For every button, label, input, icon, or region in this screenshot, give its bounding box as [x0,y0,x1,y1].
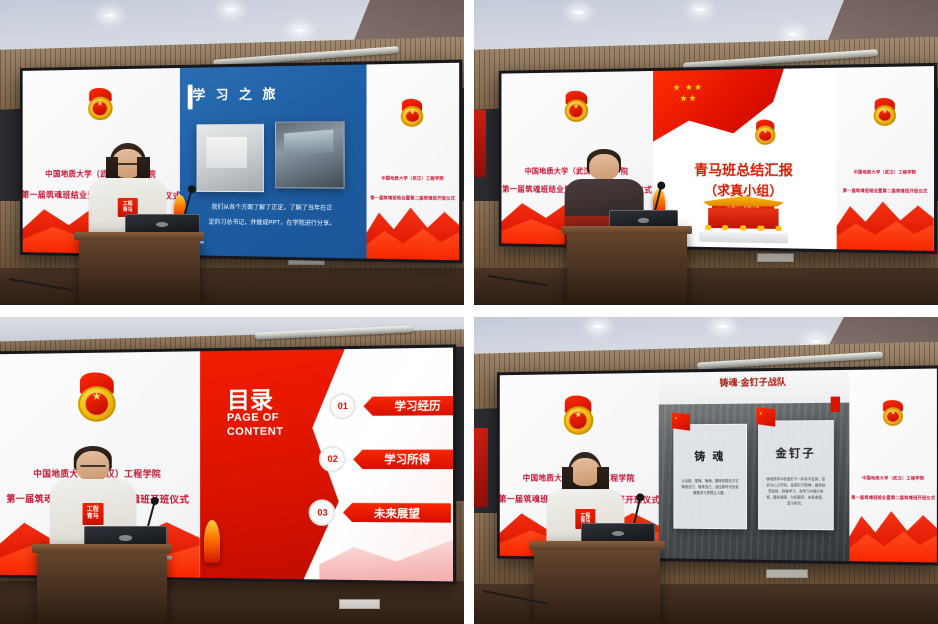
podium-top [529,541,664,550]
screen-right: 中国地质大学（武汉）工程学院 第一届筑魂班结业暨第二届筑魂班开班仪式 [366,63,460,261]
photo-collage: 中国地质大学（武汉）工程学院 第一届筑魂班结业暨第二届筑魂班开班仪式 学 习 之… [0,0,938,624]
title-line-1: 中国地质大学（武汉）工程学院 [854,170,917,176]
lecture-hall-room: 中国地质大学（武汉）工程学院 第一届筑魂班结业暨第二届筑魂班开班仪式 ★ ★★ … [474,0,938,305]
toc-item-label: 学习经历 [363,395,453,415]
title-line-2: 第一届筑魂班结业暨第二届筑魂班开班仪式 [843,188,928,195]
tshirt-badge: 工程青马 [82,503,103,525]
lecture-hall-room: 中国地质大学（武汉）工程学院 第一届筑魂班结业暨第二届筑魂班开班仪式 铸魂·金钉… [474,317,938,624]
toc-title-en-line1: PAGE OF [227,412,279,424]
cover-title: 青马班总结汇报 [653,160,837,181]
toc-item[interactable]: 01 学习经历 [330,392,454,420]
team-card-body: 像地质学中的金钉子一样永不生锈，坚定为心之所向，发扬钉子精神，做到刻苦钻研、勤奋… [765,477,827,507]
head [571,458,601,486]
team-card-title: 金钉子 [759,445,832,461]
cyl-emblem-icon [754,119,776,146]
podium [79,232,200,305]
toc-title-cn: 目录 [227,380,273,415]
cyl-emblem-icon-shape [401,99,425,128]
screen-center: ★ ★★ ★★ 青马班总结汇报 （求真小组） 汇报人：求真小组 [653,68,837,249]
side-banner [474,428,488,508]
photo-seminar-room [275,121,345,189]
toc-item[interactable]: 02 学习所得 [319,446,453,473]
toc-item-label: 学习所得 [353,449,453,469]
cyl-emblem-icon [881,400,904,427]
panel-qingma-summary[interactable]: 中国地质大学（武汉）工程学院 第一届筑魂班结业暨第二届筑魂班开班仪式 ★ ★★ … [474,0,938,305]
eyeglasses-icon [80,465,105,469]
cyl-emblem-icon [562,396,594,436]
china-flag-icon [672,412,690,431]
slide-caption-line-2: 定的习总书记，并做成PPT，在学院进行分享。 [195,218,351,230]
team-slide: 铸魂·金钉子战队 铸 魂 以治团、塑魂、铸魂、雕琢的理念方式铸造自己、锻炼自己、… [659,370,850,562]
team-card: 铸 魂 以治团、塑魂、铸魂、雕琢的理念方式铸造自己、锻炼自己、适应新时代的发展要… [673,424,746,530]
toc-item-number: 02 [319,446,346,472]
photo-classroom-lecture [196,124,264,193]
team-slide-heading: 铸魂·金钉子战队 [659,374,850,390]
tiananmen-gate-icon [699,196,787,243]
screen-center: 目录 PAGE OF CONTENT 01 学习经历 02 学习所得 [200,347,453,581]
study-journey-slide: 学 习 之 旅 我们从各个方面了解了正定，了解了当年在正 定的习总书记，并做成P… [180,65,366,259]
stage-front [474,268,938,305]
wall-vent [766,569,808,578]
podium-top [562,226,692,235]
cyl-emblem-icon [77,372,118,423]
title-slide-right: 中国地质大学（武汉）工程学院 第一届筑魂班结业暨第二届筑魂班开班仪式 [837,66,934,251]
title-line-2: 第一届筑魂班结业暨第二届筑魂班开班仪式 [371,195,456,202]
toc-item-label: 未来展望 [343,503,451,523]
team-card-title: 铸 魂 [674,448,745,464]
toc-item-number: 03 [309,499,336,526]
downlight-icon [223,6,239,13]
screen-right: 中国地质大学（武汉）工程学院 第一届筑魂班结业暨第二届筑魂班开班仪式 [849,369,937,563]
lecture-hall-room: 中国地质大学（武汉）工程学院 第一届筑魂班结业暨第二届筑魂班开班仪式 目录 PA… [0,317,464,624]
title-line-1: 中国地质大学（武汉）工程学院 [382,175,445,181]
eyeglasses-icon [116,163,140,167]
stage-front [0,268,464,305]
toc-title-en-line2: CONTENT [227,425,284,437]
panel-study-journey[interactable]: 中国地质大学（武汉）工程学院 第一届筑魂班结业暨第二届筑魂班开班仪式 学 习 之… [0,0,464,305]
china-flag-icon [756,407,775,427]
cyl-emblem-icon [87,88,114,122]
toc-item-number: 01 [330,393,357,420]
trophy-ornament [204,520,220,563]
lecture-hall-room: 中国地质大学（武汉）工程学院 第一届筑魂班结业暨第二届筑魂班开班仪式 学 习 之… [0,0,464,305]
podium-top [32,544,172,553]
slide-caption-line-1: 我们从各个方面了解了正定，了解了当年在正 [195,203,351,215]
cyl-emblem-icon [873,98,897,127]
red-marker-icon [830,397,839,412]
team-card: 金钉子 像地质学中的金钉子一样永不生锈，坚定为心之所向，发扬钉子精神，做到刻苦钻… [758,420,833,531]
wall-vent [757,253,794,262]
panel-team-zhuhun[interactable]: 中国地质大学（武汉）工程学院 第一届筑魂班结业暨第二届筑魂班开班仪式 铸魂·金钉… [474,317,938,624]
podium [567,226,688,305]
slide-heading: 学 习 之 旅 [193,83,280,103]
toc-title-en: PAGE OF CONTENT [227,412,284,439]
title-slide-right: 中国地质大学（武汉）工程学院 第一届筑魂班结业暨第二届筑魂班开班仪式 [366,63,460,261]
wall-vent [339,599,381,608]
podium [37,544,167,624]
toc-slide: 目录 PAGE OF CONTENT 01 学习经历 02 学习所得 [200,347,453,581]
team-card-body: 以治团、塑魂、铸魂、雕琢的理念方式铸造自己、锻炼自己、适应新时代的发展要求与思想… [680,479,740,497]
screen-center: 学 习 之 旅 我们从各个方面了解了正定，了解了当年在正 定的习总书记，并做成P… [180,65,366,259]
screen-right: 中国地质大学（武汉）工程学院 第一届筑魂班结业暨第二届筑魂班开班仪式 [837,66,934,251]
podium-top [74,232,204,240]
screen-center: 铸魂·金钉子战队 铸 魂 以治团、塑魂、铸魂、雕琢的理念方式铸造自己、锻炼自己、… [659,370,850,562]
cyl-emblem-icon [563,91,589,124]
title-line-2: 第一届筑魂班结业暨第二届筑魂班开班仪式 [851,495,935,502]
qingma-cover-slide: ★ ★★ ★★ 青马班总结汇报 （求真小组） 汇报人：求真小组 [653,68,837,249]
head [589,154,619,180]
side-banner [474,110,486,177]
title-line-1: 中国地质大学（武汉）工程学院 [862,475,924,481]
five-stars-icon: ★ ★★ ★★ [672,83,703,105]
podium [534,541,659,624]
title-slide-right: 中国地质大学（武汉）工程学院 第一届筑魂班结业暨第二届筑魂班开班仪式 [849,369,937,563]
toc-item[interactable]: 03 未来展望 [309,499,451,526]
downlight-icon [785,31,801,38]
panel-table-of-contents[interactable]: 中国地质大学（武汉）工程学院 第一届筑魂班结业暨第二届筑魂班开班仪式 目录 PA… [0,317,464,624]
